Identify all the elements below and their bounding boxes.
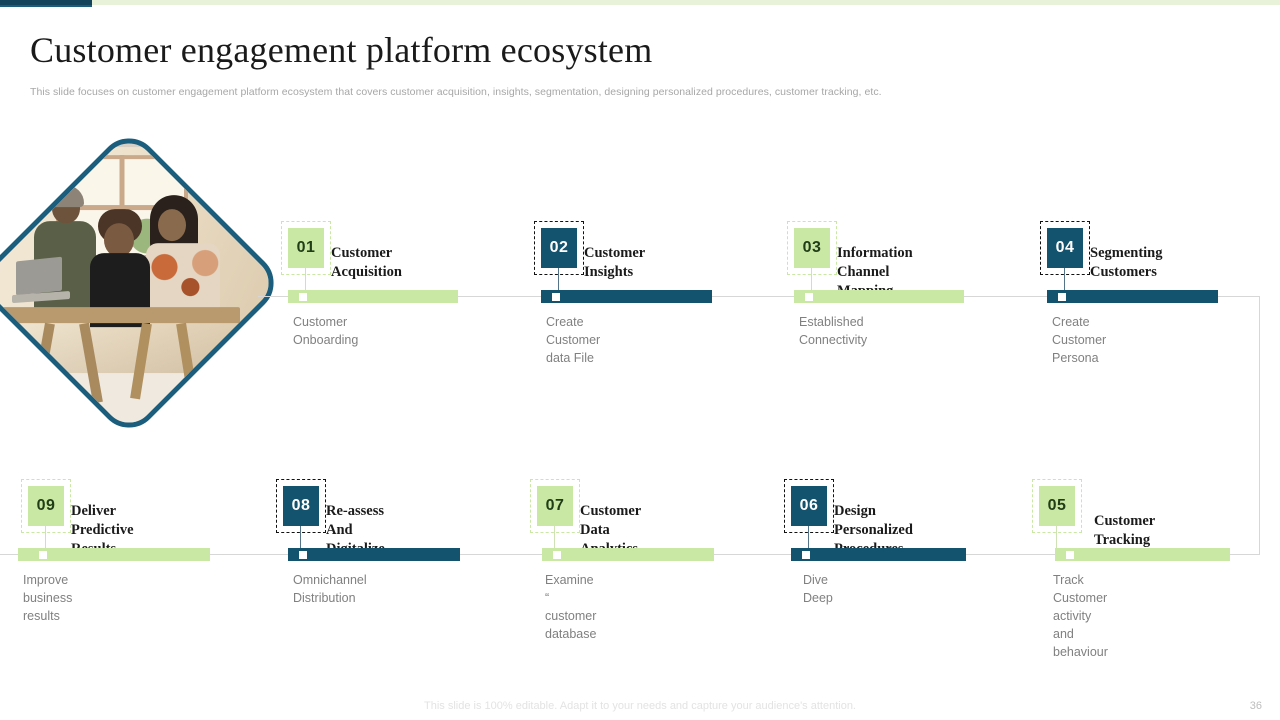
photo-table	[2, 307, 240, 323]
step-05-description: Track Customer activity and behaviour	[1053, 571, 1108, 661]
step-08-number: 08	[283, 486, 319, 526]
step-05-bar	[1055, 548, 1230, 561]
photo-table-leg	[79, 323, 103, 404]
top-accent-bar-green	[92, 0, 1280, 5]
step-08-bar	[288, 548, 460, 561]
page-title: Customer engagement platform ecosystem	[30, 28, 652, 72]
timeline-rail-right-vertical	[1259, 296, 1260, 554]
step-05-number: 05	[1039, 486, 1075, 526]
step-01-description: Customer Onboarding	[293, 313, 358, 349]
step-07-description: Examine “ customer database	[545, 571, 596, 643]
step-04-number: 04	[1047, 228, 1083, 268]
page-subtitle: This slide focuses on customer engagemen…	[30, 86, 882, 98]
step-02-bar-notch	[552, 293, 560, 301]
photo-table-leg	[31, 323, 55, 404]
step-04-bar-notch	[1058, 293, 1066, 301]
footer-note: This slide is 100% editable. Adapt it to…	[0, 700, 1280, 712]
step-04-description: Create Customer Persona	[1052, 313, 1106, 367]
step-07-bar	[542, 548, 714, 561]
photo-table-leg	[176, 323, 198, 400]
step-01-bar	[288, 290, 458, 303]
step-06-bar-notch	[802, 551, 810, 559]
photo-person-right-head	[158, 209, 186, 241]
step-01-bar-notch	[299, 293, 307, 301]
step-03-bar-notch	[805, 293, 813, 301]
step-03-number: 03	[794, 228, 830, 268]
step-07-number: 07	[537, 486, 573, 526]
step-01-number: 01	[288, 228, 324, 268]
top-accent-bar-navy-thin	[0, 5, 92, 7]
step-03-description: Established Connectivity	[799, 313, 867, 349]
step-09-bar	[18, 548, 210, 561]
step-08-bar-notch	[299, 551, 307, 559]
step-05-bar-notch	[1066, 551, 1074, 559]
photo-diamond-frame	[0, 126, 286, 440]
step-02-title: Customer Insights	[584, 244, 645, 282]
step-05-title: Customer Tracking	[1094, 512, 1155, 550]
step-02-description: Create Customer data File	[546, 313, 600, 367]
step-06-bar	[791, 548, 966, 561]
photo-laptop-screen	[16, 257, 62, 296]
photo-image	[0, 147, 272, 433]
step-02-number: 02	[541, 228, 577, 268]
step-01-title: Customer Acquisition	[331, 244, 402, 282]
step-08-description: Omnichannel Distribution	[293, 571, 367, 607]
hero-photo	[18, 172, 240, 394]
step-09-number: 09	[28, 486, 64, 526]
step-06-description: Dive Deep	[803, 571, 833, 607]
step-06-number: 06	[791, 486, 827, 526]
step-03-bar	[794, 290, 964, 303]
step-04-bar	[1047, 290, 1218, 303]
photo-person-center-head	[104, 223, 134, 257]
step-09-bar-notch	[39, 551, 47, 559]
page-number: 36	[1250, 700, 1262, 712]
step-09-description: Improve business results	[23, 571, 72, 625]
step-07-bar-notch	[553, 551, 561, 559]
step-04-title: Segmenting Customers	[1090, 244, 1163, 282]
step-02-bar	[541, 290, 712, 303]
slide-canvas: Customer engagement platform ecosystem T…	[0, 0, 1280, 720]
